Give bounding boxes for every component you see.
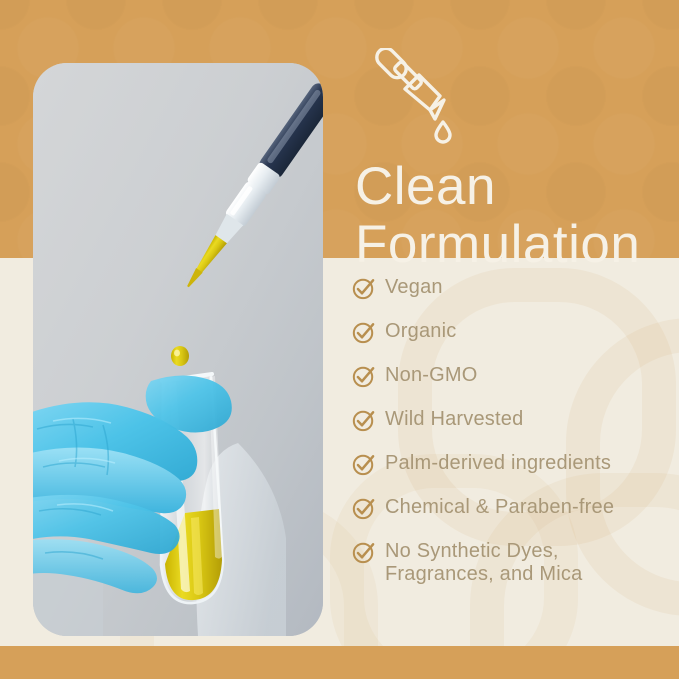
check-circle-icon: [352, 497, 375, 520]
checklist-item-chemical-paraben-free: Chemical & Paraben-free: [352, 496, 679, 520]
checklist-item-non-gmo: Non-GMO: [352, 364, 679, 388]
checklist-item-vegan: Vegan: [352, 276, 679, 300]
checklist-item-label: Non-GMO: [385, 364, 478, 387]
check-circle-icon: [352, 541, 375, 564]
benefits-checklist: Vegan Organic Non-GMO: [352, 276, 679, 586]
checklist-item-label: No Synthetic Dyes, Fragrances, and Mica: [385, 540, 582, 586]
checklist-item-wild-harvested: Wild Harvested: [352, 408, 679, 432]
check-circle-icon: [352, 409, 375, 432]
checklist-item-no-synthetic-dyes: No Synthetic Dyes, Fragrances, and Mica: [352, 540, 679, 586]
check-circle-icon: [352, 277, 375, 300]
checklist-item-label: Organic: [385, 320, 456, 343]
checklist-item-label: Wild Harvested: [385, 408, 523, 431]
checklist-item-label: Chemical & Paraben-free: [385, 496, 614, 519]
checklist-item-label: Palm-derived ingredients: [385, 452, 611, 475]
page-title: Clean Formulation: [355, 158, 679, 274]
dropper-icon: [370, 48, 474, 144]
check-circle-icon: [352, 321, 375, 344]
checklist-item-palm-derived-ingredients: Palm-derived ingredients: [352, 452, 679, 476]
check-circle-icon: [352, 365, 375, 388]
clean-formulation-card: Clean Formulation Vegan: [0, 0, 679, 679]
checklist-item-organic: Organic: [352, 320, 679, 344]
content-column: Clean Formulation Vegan: [352, 0, 679, 679]
checklist-item-label: Vegan: [385, 276, 443, 299]
product-photo: [33, 63, 323, 636]
check-circle-icon: [352, 453, 375, 476]
